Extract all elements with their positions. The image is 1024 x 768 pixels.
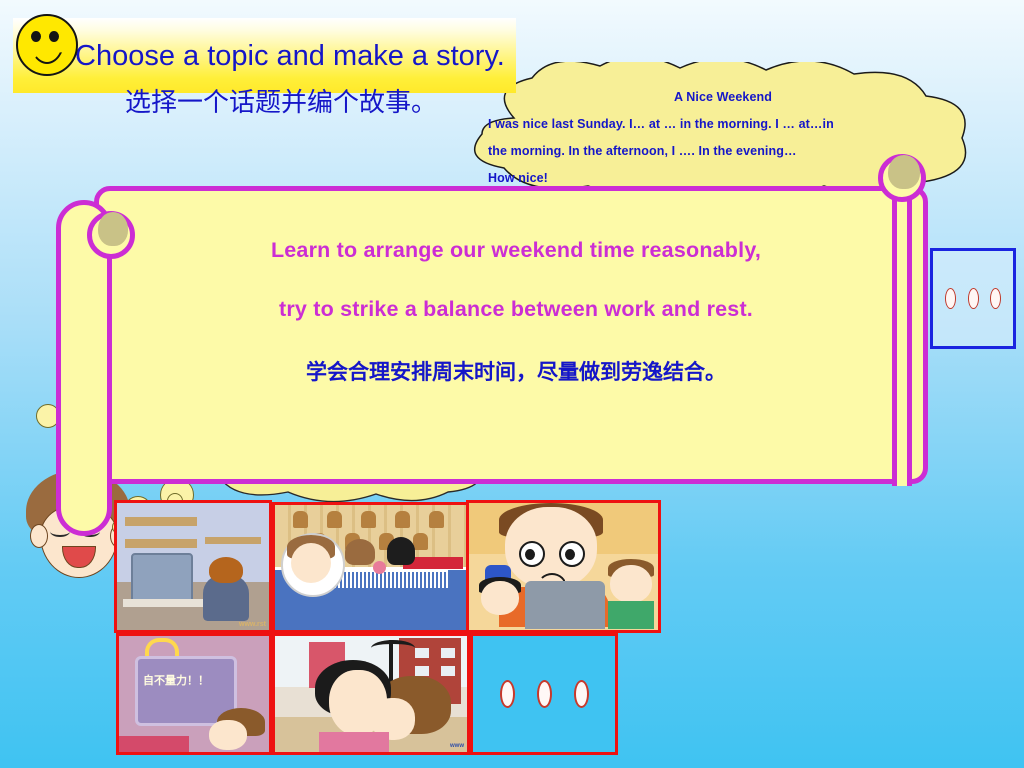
red-oval-mark	[945, 288, 956, 309]
scroll-right-edge	[892, 190, 912, 486]
grid-cell-sleeping-at-monitor-scene[interactable]: 自不量力！！	[116, 633, 272, 755]
smiley-mouth	[29, 38, 65, 64]
sleeping-at-monitor-illustration: 自不量力！！	[119, 636, 269, 752]
boy-ear-left	[30, 524, 48, 548]
scroll-left-curl	[87, 211, 135, 259]
monitor-caption-text: 自不量力！！	[143, 672, 223, 688]
scroll-line-english-2: try to strike a balance between work and…	[166, 297, 866, 322]
empty-cell-marks	[473, 636, 615, 752]
grid-cell-empty-blue[interactable]	[470, 633, 618, 755]
red-oval-mark	[968, 288, 979, 309]
grid-cell-angry-boys-screen-scene[interactable]	[466, 500, 661, 633]
slide-canvas: A Nice Weekend I was nice last Sunday. I…	[0, 0, 1024, 768]
grid-cell-bedroom-computer-scene[interactable]: www.rst	[114, 500, 272, 633]
grid-cell-two-kids-outdoors-scene[interactable]: www	[272, 633, 470, 755]
red-oval-mark	[537, 680, 552, 708]
scroll-line-english-1: Learn to arrange our weekend time reason…	[166, 238, 866, 263]
scroll-line-chinese: 学会合理安排周末时间，尽量做到劳逸结合。	[166, 356, 866, 386]
thought-cloud-title: A Nice Weekend	[448, 84, 988, 111]
picture-grid: www.rst	[114, 500, 661, 755]
grid-cell-table-tennis-scene[interactable]	[272, 502, 470, 633]
watermark-text: www.rst	[239, 621, 266, 628]
red-oval-mark	[500, 680, 515, 708]
scroll-text-block: Learn to arrange our weekend time reason…	[166, 238, 866, 386]
bedroom-computer-illustration: www.rst	[117, 503, 269, 630]
table-tennis-illustration	[275, 505, 467, 630]
angry-boys-illustration	[469, 503, 658, 630]
blue-answer-box[interactable]	[930, 248, 1016, 349]
red-oval-mark	[990, 288, 1001, 309]
scroll-banner: Learn to arrange our weekend time reason…	[56, 186, 928, 484]
two-kids-outdoors-illustration: www	[275, 636, 467, 752]
red-oval-mark	[574, 680, 589, 708]
smiley-face-icon	[16, 14, 78, 76]
scroll-left-roll	[56, 200, 112, 536]
title-english: Choose a topic and make a story.	[75, 40, 505, 73]
title-banner: Choose a topic and make a story. 选择一个话题并…	[13, 18, 516, 93]
title-chinese: 选择一个话题并编个故事。	[125, 82, 437, 119]
watermark-text: www	[450, 743, 464, 749]
thought-cloud-line-1: I was nice last Sunday. I… at … in the m…	[488, 111, 966, 138]
blue-box-marks	[933, 251, 1013, 346]
scroll-top-right-curl	[878, 154, 926, 202]
